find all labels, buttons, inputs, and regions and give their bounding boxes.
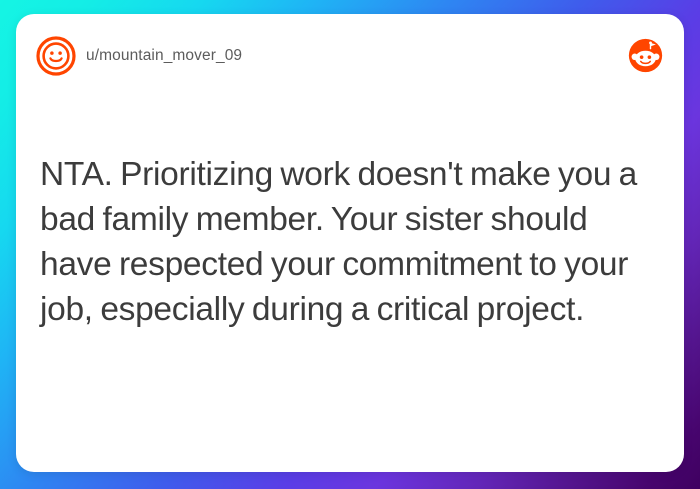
smiley-face-avatar-icon[interactable]: [36, 36, 76, 76]
username-label: u/mountain_mover_09: [86, 47, 242, 65]
card-body: NTA. Prioritizing work doesn't make you …: [40, 152, 652, 332]
comment-card: u/mountain_mover_09 NTA.: [16, 14, 684, 472]
comment-text: NTA. Prioritizing work doesn't make you …: [40, 152, 652, 332]
card-header: u/mountain_mover_09: [16, 14, 684, 100]
gradient-background: u/mountain_mover_09 NTA.: [0, 0, 700, 489]
reddit-snoo-icon[interactable]: [627, 37, 664, 74]
